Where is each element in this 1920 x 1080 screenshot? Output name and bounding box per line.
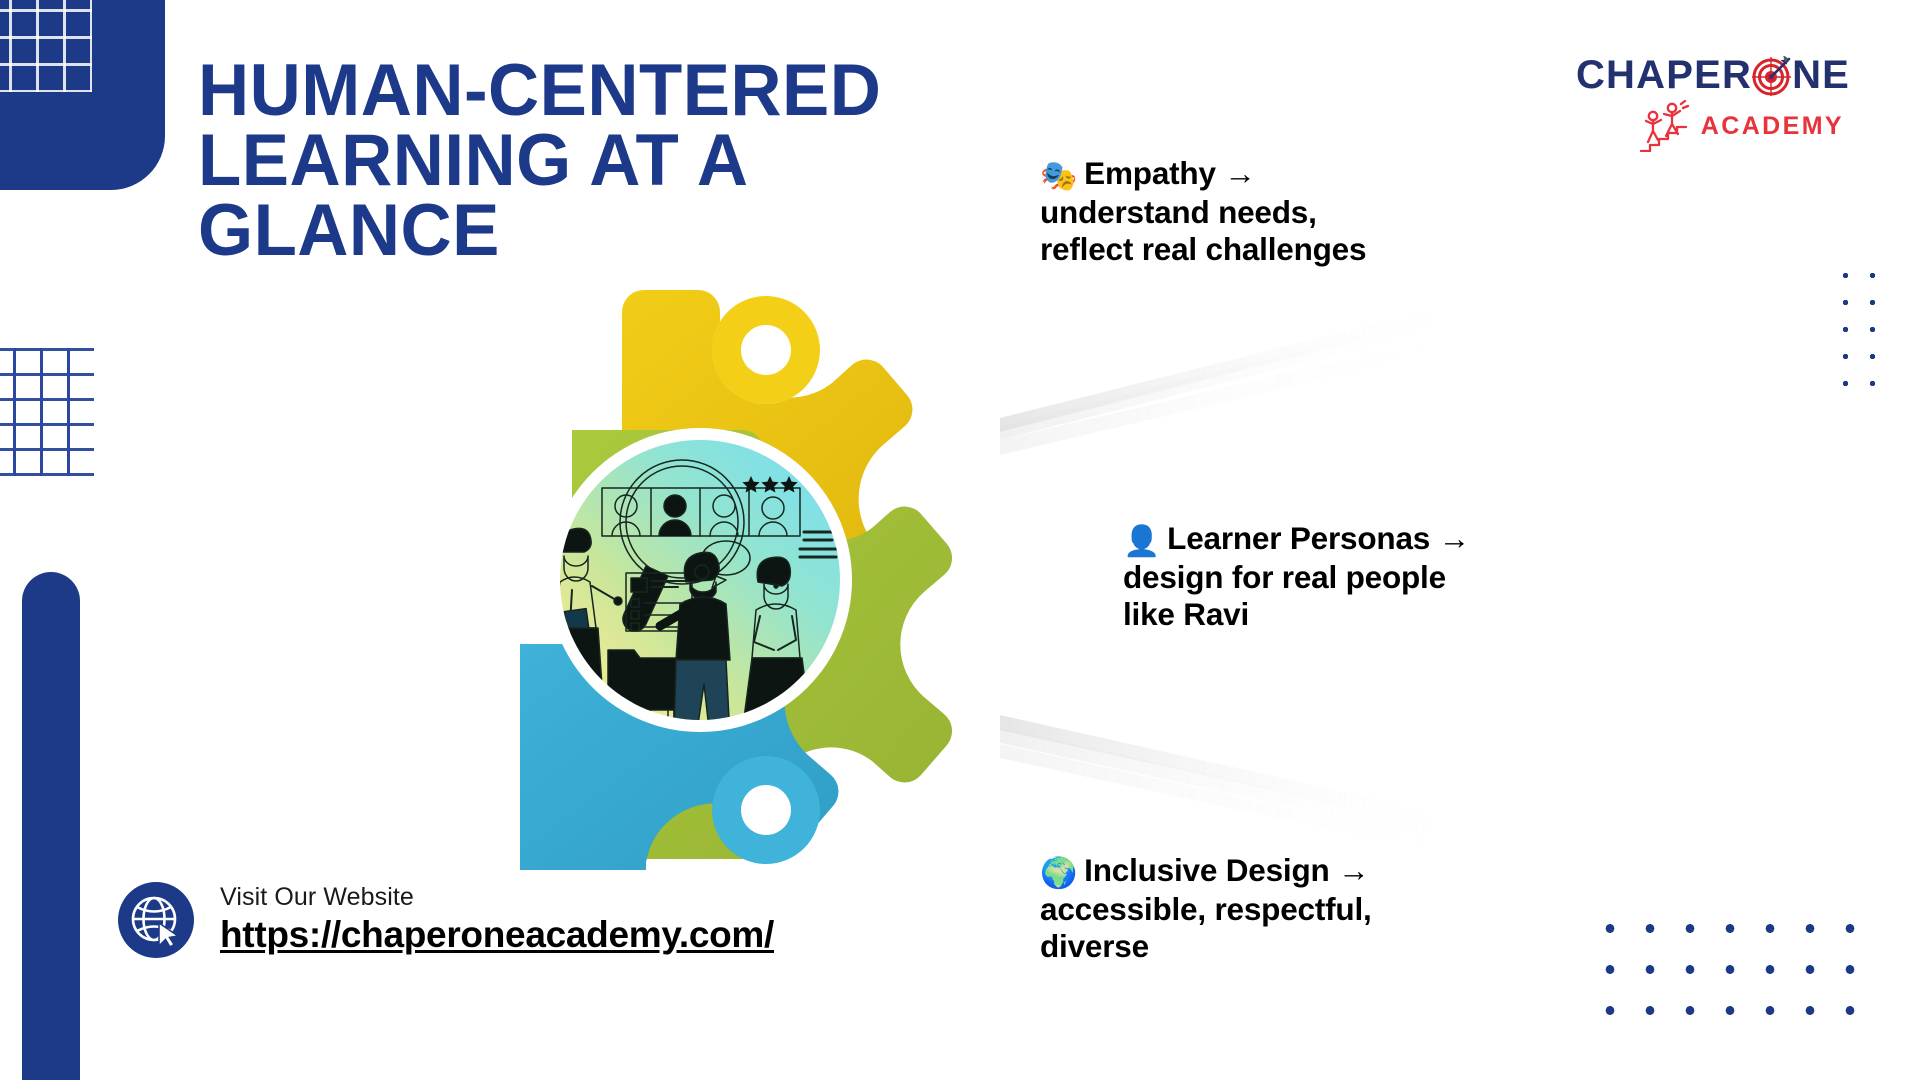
top-left-navy-block [0, 0, 165, 190]
chaperone-academy-logo: CHAPER NE [1578, 50, 1848, 152]
bullet-learner-personas-line-3: like Ravi [1123, 596, 1470, 633]
poster-canvas: HUMAN-CENTERED LEARNING AT A GLANCE CHAP… [0, 0, 1920, 1080]
visit-label: Visit Our Website [220, 883, 774, 913]
logo-subtitle-row: ACADEMY [1578, 100, 1848, 152]
bottom-right-dot-pattern [1590, 908, 1880, 1040]
performing-arts-masks-icon: 🎭 [1040, 160, 1077, 193]
website-url-link[interactable]: https://chaperoneacademy.com/ [220, 913, 774, 957]
bullet-learner-personas-line-2: design for real people [1123, 559, 1470, 596]
bullseye-target-icon [1752, 56, 1792, 96]
logo-wordmark-row: CHAPER NE [1578, 50, 1848, 100]
bust-in-silhouette-icon: 👤 [1123, 525, 1160, 558]
two-people-climbing-stairs-icon [1633, 100, 1697, 152]
globe-europe-africa-icon: 🌍 [1040, 857, 1077, 890]
website-footer: Visit Our Website https://chaperoneacade… [118, 882, 774, 958]
human-centered-learning-gear-illustration [520, 290, 1080, 870]
page-title: HUMAN-CENTERED LEARNING AT A GLANCE [198, 56, 1003, 266]
bullet-learner-personas-line-1: 👤Learner Personas → [1123, 520, 1470, 559]
top-right-dot-pattern [1832, 262, 1894, 402]
bullet-learner-personas: 👤Learner Personas → design for real peop… [1123, 520, 1470, 633]
bullet-inclusive-design-line-1: 🌍Inclusive Design → [1040, 852, 1372, 891]
bullet-inclusive-design-line-2: accessible, respectful, [1040, 891, 1372, 928]
bullet-inclusive-design: 🌍Inclusive Design → accessible, respectf… [1040, 852, 1372, 965]
logo-word-ne: NE [1792, 55, 1850, 95]
left-navy-bar [22, 572, 80, 1080]
bullet-inclusive-design-line-3: diverse [1040, 928, 1372, 965]
footer-text-block: Visit Our Website https://chaperoneacade… [220, 883, 774, 956]
globe-cursor-icon [118, 882, 194, 958]
bullet-inclusive-design-heading: Inclusive Design → [1084, 852, 1369, 888]
bullet-empathy-line-1: 🎭Empathy → [1040, 155, 1366, 194]
bullet-learner-personas-heading: Learner Personas → [1167, 520, 1470, 556]
logo-subtitle-academy: ACADEMY [1701, 112, 1844, 141]
bullet-empathy-line-2: understand needs, [1040, 194, 1366, 231]
logo-word-chapero: CHAPER [1576, 55, 1752, 95]
left-grid-pattern [0, 348, 94, 476]
bullet-empathy-heading: Empathy → [1084, 155, 1255, 191]
bullet-empathy-line-3: reflect real challenges [1040, 231, 1366, 268]
bullet-empathy: 🎭Empathy → understand needs, reflect rea… [1040, 155, 1366, 268]
top-left-grid-pattern [0, 0, 92, 92]
